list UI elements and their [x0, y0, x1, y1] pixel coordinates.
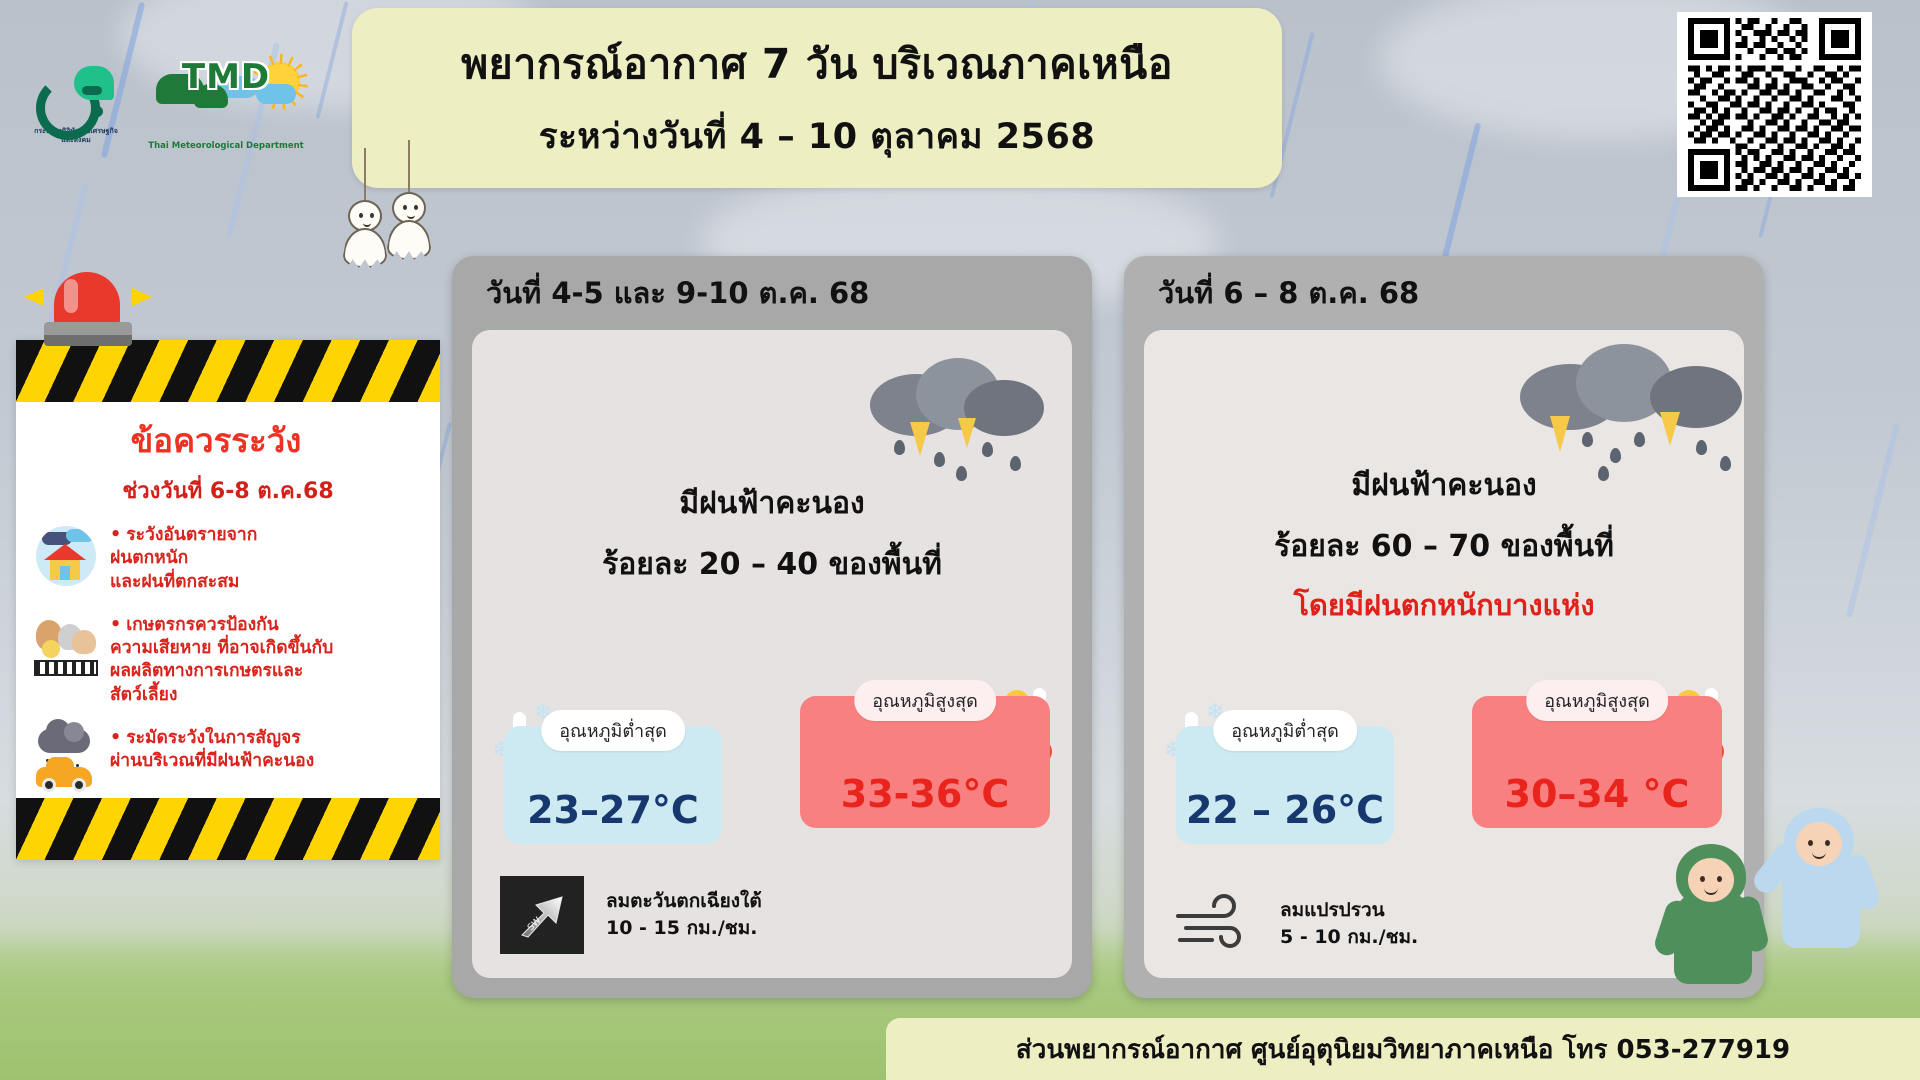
tmd-wordmark: TMD — [146, 62, 306, 93]
tmd-logo: TMD Thai Meteorological Department — [146, 62, 306, 151]
kids-in-raincoats-illustration — [1668, 782, 1908, 1002]
min-temp-box: อุณหภูมิต่ำสุด 23–27°C — [504, 726, 722, 844]
siren-light-icon — [40, 272, 136, 346]
forecast-card-left-header: วันที่ 4-5 และ 9-10 ต.ค. 68 — [452, 256, 1092, 330]
wind-text: ลมตะวันตกเฉียงใต้ 10 - 15 กม./ชม. — [606, 888, 762, 941]
forecast-card-right-summary: มีฝนฟ้าคะนอง ร้อยละ 60 – 70 ของพื้นที่ โ… — [1144, 462, 1744, 628]
warning-list: •ระวังอันตรายจาก ฝนตกหนัก และฝนที่ตกสะสม — [32, 522, 424, 793]
de-logo: กระทรวงดิจิทัลเพื่อเศรษฐกิจและสังคม — [28, 62, 124, 145]
flood-house-icon — [32, 522, 100, 590]
min-temp-value: 23–27°C — [504, 788, 722, 832]
max-temp-box: อุณหภูมิสูงสุด 33-36°C — [800, 696, 1050, 828]
warning-date-range: ช่วงวันที่ 6-8 ต.ค.68 — [32, 473, 424, 508]
de-logo-icon — [34, 62, 118, 124]
min-temp-value: 22 – 26°C — [1176, 788, 1394, 832]
warning-item-line: ผ่านบริเวณที่มีฝนฟ้าคะนอง — [110, 751, 314, 771]
warning-title-row: ข้อควรระวัง — [32, 414, 424, 467]
warning-item-line: ผลผลิตทางการเกษตรและ — [110, 661, 303, 681]
forecast-card-right-header: วันที่ 6 – 8 ต.ค. 68 — [1124, 256, 1764, 330]
forecast-card-right-temperatures: ❄ ❄ อุณหภูมิต่ำสุด 22 – 26°C อุณหภูมิสูง… — [1162, 688, 1728, 860]
forecast-card-left-wind: SW ลมตะวันตกเฉียงใต้ 10 - 15 กม./ชม. — [500, 876, 762, 954]
qr-code[interactable] — [1677, 12, 1872, 197]
min-temp-box: อุณหภูมิต่ำสุด 22 – 26°C — [1176, 726, 1394, 844]
qr-code-icon — [1683, 18, 1866, 191]
forecast-summary-line2: ร้อยละ 60 – 70 ของพื้นที่ — [1144, 523, 1744, 570]
title-banner: พยากรณ์อากาศ 7 วัน บริเวณภาคเหนือ ระหว่า… — [352, 8, 1282, 188]
forecast-card-left-temperatures: ❄ ❄ อุณหภูมิต่ำสุด 23–27°C อุณหภูมิสูงสุ… — [490, 688, 1056, 860]
forecast-summary-line1: มีฝนฟ้าคะนอง — [1144, 462, 1744, 509]
max-temp-value: 33-36°C — [800, 772, 1050, 816]
farm-animals-icon — [32, 612, 100, 680]
wind-direction-sw-icon: SW — [500, 876, 584, 954]
warning-item-text: •ระมัดระวังในการสัญจร ผ่านบริเวณที่มีฝนฟ… — [110, 725, 314, 774]
forecast-summary-line1: มีฝนฟ้าคะนอง — [472, 480, 1072, 527]
thunderstorm-rain-icon — [854, 356, 1064, 496]
forecast-summary-line2: ร้อยละ 20 – 40 ของพื้นที่ — [472, 541, 1072, 588]
warning-item-text: •ระวังอันตรายจาก ฝนตกหนัก และฝนที่ตกสะสม — [110, 522, 257, 594]
footer-text: ส่วนพยากรณ์อากาศ ศูนย์อุตุนิยมวิทยาภาคเห… — [1016, 1029, 1790, 1070]
warning-body: ข้อควรระวัง ช่วงวันที่ 6-8 ต.ค.68 •ระวัง… — [16, 402, 440, 798]
warning-item-line: ฝนตกหนัก — [110, 548, 188, 568]
max-temp-label: อุณหภูมิสูงสุด — [854, 680, 996, 721]
min-temp-label: อุณหภูมิต่ำสุด — [541, 710, 685, 751]
wind-direction-label: ลมตะวันตกเฉียงใต้ — [606, 888, 762, 915]
forecast-card-left: วันที่ 4-5 และ 9-10 ต.ค. 68 มีฝนฟ้าคะนอง… — [452, 256, 1092, 998]
hazard-stripe-bottom — [16, 798, 440, 860]
wind-direction-label: ลมแปรปรวน — [1280, 897, 1418, 924]
warning-item: •ระมัดระวังในการสัญจร ผ่านบริเวณที่มีฝนฟ… — [32, 725, 424, 793]
tmd-subtitle: Thai Meteorological Department — [146, 141, 306, 151]
arrow-northeast-icon: SW — [514, 887, 570, 943]
tmd-logo-icon: TMD — [146, 62, 306, 138]
forecast-card-left-summary: มีฝนฟ้าคะนอง ร้อยละ 20 – 40 ของพื้นที่ — [472, 480, 1072, 588]
min-temp-label: อุณหภูมิต่ำสุด — [1213, 710, 1357, 751]
infographic-canvas: กระทรวงดิจิทัลเพื่อเศรษฐกิจและสังคม TMD … — [0, 0, 1920, 1080]
warning-item-line: ระวังอันตรายจาก — [126, 525, 257, 545]
page-subtitle: ระหว่างวันที่ 4 – 10 ตุลาคม 2568 — [539, 109, 1095, 164]
wind-swirl-icon — [1172, 894, 1258, 954]
warning-item-line: ระมัดระวังในการสัญจร — [126, 728, 300, 748]
footer-bar: ส่วนพยากรณ์อากาศ ศูนย์อุตุนิยมวิทยาภาคเห… — [886, 1018, 1920, 1080]
warning-item-line: ความเสียหาย ที่อาจเกิดขึ้นกับ — [110, 638, 333, 658]
forecast-card-right-body: มีฝนฟ้าคะนอง ร้อยละ 60 – 70 ของพื้นที่ โ… — [1144, 330, 1744, 978]
car-rain-icon — [32, 725, 100, 793]
warning-panel: ข้อควรระวัง ช่วงวันที่ 6-8 ต.ค.68 •ระวัง… — [16, 340, 440, 860]
forecast-summary-line3: โดยมีฝนตกหนักบางแห่ง — [1144, 582, 1744, 628]
hazard-stripe-top — [16, 340, 440, 402]
forecast-card-left-body: มีฝนฟ้าคะนอง ร้อยละ 20 – 40 ของพื้นที่ ❄… — [472, 330, 1072, 978]
teru-teru-bozu-doll — [392, 192, 426, 260]
logo-group: กระทรวงดิจิทัลเพื่อเศรษฐกิจและสังคม TMD … — [28, 62, 306, 151]
forecast-card-right-wind: ลมแปรปรวน 5 - 10 กม./ชม. — [1172, 894, 1418, 954]
wind-variable-icon — [1172, 894, 1258, 954]
warning-item: •เกษตรกรควรป้องกัน ความเสียหาย ที่อาจเกิ… — [32, 612, 424, 707]
warning-item: •ระวังอันตรายจาก ฝนตกหนัก และฝนที่ตกสะสม — [32, 522, 424, 594]
wind-text: ลมแปรปรวน 5 - 10 กม./ชม. — [1280, 897, 1418, 950]
forecast-card-right-header-text: วันที่ 6 – 8 ต.ค. 68 — [1158, 270, 1419, 316]
warning-item-line: เกษตรกรควรป้องกัน — [126, 615, 279, 635]
forecast-card-left-header-text: วันที่ 4-5 และ 9-10 ต.ค. 68 — [486, 270, 869, 316]
wind-speed-label: 10 - 15 กม./ชม. — [606, 915, 762, 942]
teru-teru-bozu-doll — [348, 200, 382, 268]
max-temp-label: อุณหภูมิสูงสุด — [1526, 680, 1668, 721]
wind-speed-label: 5 - 10 กม./ชม. — [1280, 924, 1418, 951]
warning-item-text: •เกษตรกรควรป้องกัน ความเสียหาย ที่อาจเกิ… — [110, 612, 333, 707]
warning-item-line: สัตว์เลี้ยง — [110, 685, 177, 705]
warning-title: ข้อควรระวัง — [131, 414, 302, 467]
page-title: พยากรณ์อากาศ 7 วัน บริเวณภาคเหนือ — [461, 32, 1173, 97]
warning-item-line: และฝนที่ตกสะสม — [110, 572, 239, 592]
